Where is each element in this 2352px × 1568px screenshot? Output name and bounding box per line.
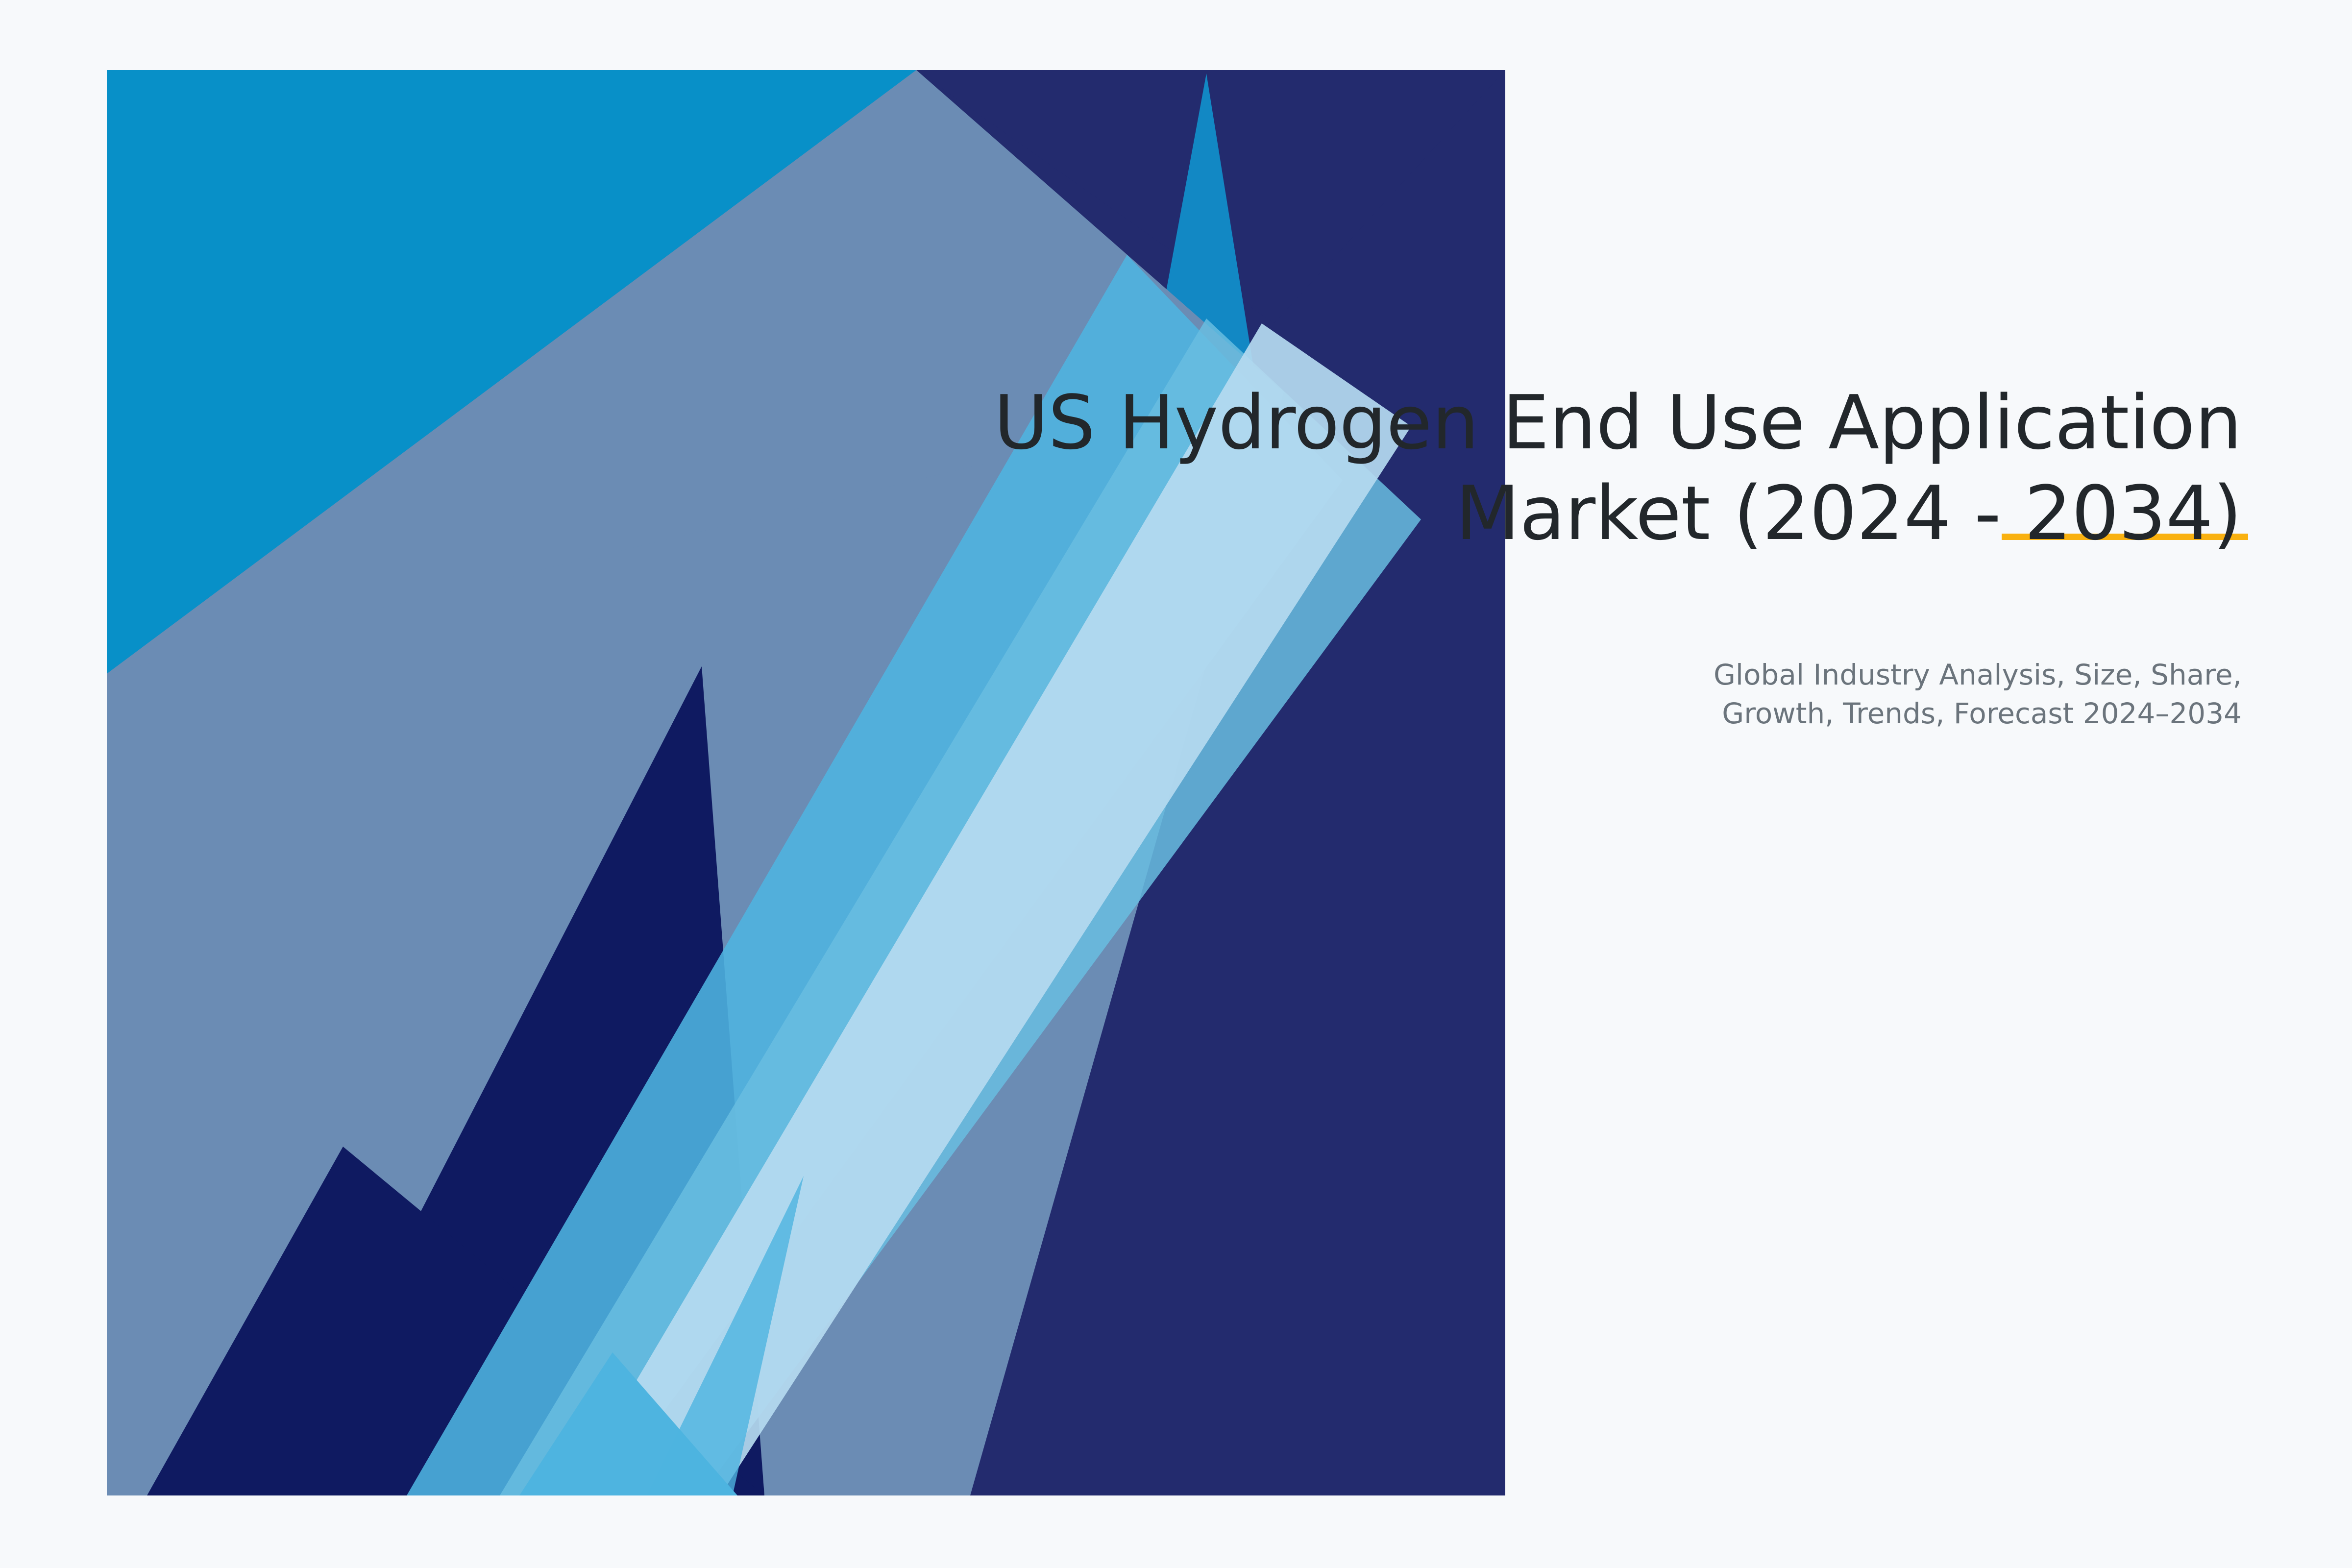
abstract-geometric-polygons — [0, 0, 2352, 1568]
page-subtitle-line2: Growth, Trends, Forecast 2024–2034 — [1494, 694, 2242, 733]
page-subtitle: Global Industry Analysis, Size, Share, G… — [1494, 656, 2242, 733]
title-block: US Hydrogen End Use Application Market (… — [931, 377, 2242, 559]
cover-page: US Hydrogen End Use Application Market (… — [0, 0, 2352, 1568]
page-subtitle-line1: Global Industry Analysis, Size, Share, — [1494, 656, 2242, 694]
page-title: US Hydrogen End Use Application Market (… — [931, 377, 2242, 559]
page-title-line1: US Hydrogen End Use Application — [931, 377, 2242, 468]
page-title-line2: Market (2024 - 2034) — [931, 468, 2242, 559]
